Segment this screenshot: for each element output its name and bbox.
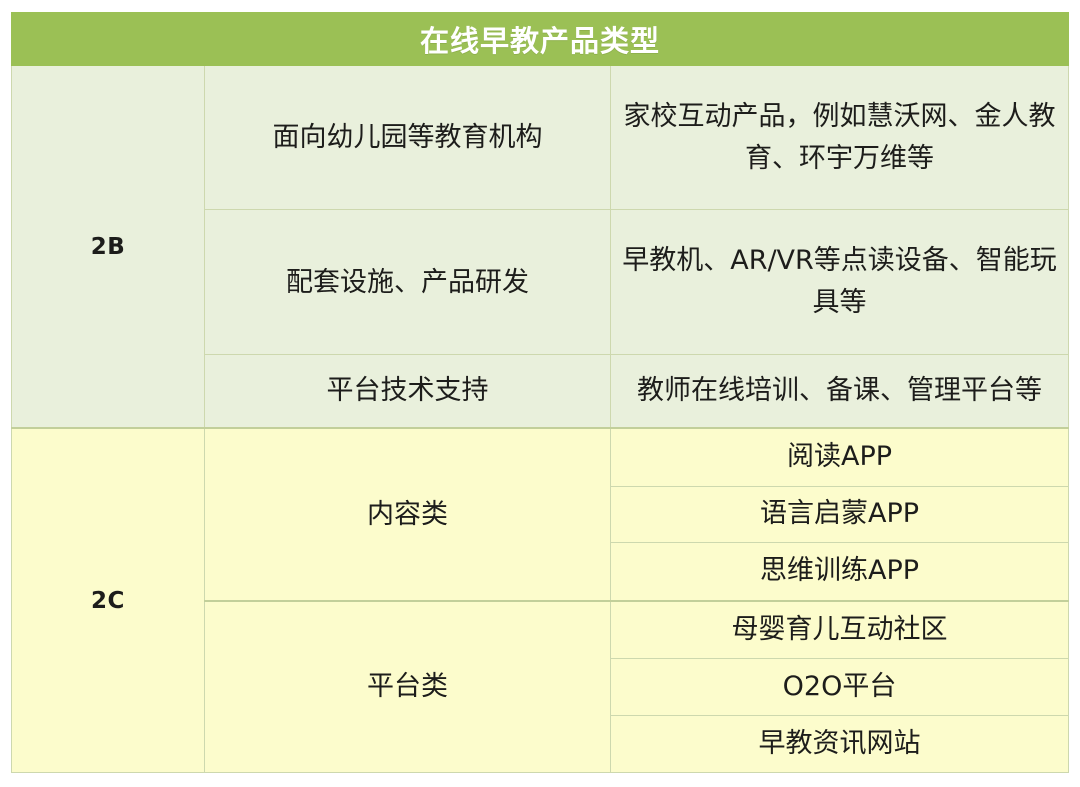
segment-label-2c: 2C: [12, 428, 205, 772]
item-cell: O2O平台: [611, 659, 1069, 716]
category-cell: 平台类: [205, 601, 611, 773]
table-row: 2C 内容类 阅读APP: [12, 428, 1069, 486]
item-cell: 早教资讯网站: [611, 716, 1069, 773]
item-cell: 家校互动产品，例如慧沃网、金人教育、环宇万维等: [611, 66, 1069, 210]
table-header-row: 在线早教产品类型: [12, 13, 1069, 66]
item-cell: 思维训练APP: [611, 543, 1069, 601]
segment-label-2b: 2B: [12, 66, 205, 429]
category-cell: 平台技术支持: [205, 354, 611, 428]
online-early-education-product-type-table: 在线早教产品类型 2B 面向幼儿园等教育机构 家校互动产品，例如慧沃网、金人教育…: [11, 12, 1069, 773]
item-cell: 语言启蒙APP: [611, 486, 1069, 543]
item-cell: 早教机、AR/VR等点读设备、智能玩具等: [611, 210, 1069, 354]
category-cell: 面向幼儿园等教育机构: [205, 66, 611, 210]
item-cell: 教师在线培训、备课、管理平台等: [611, 354, 1069, 428]
category-cell: 内容类: [205, 428, 611, 601]
table-row: 2B 面向幼儿园等教育机构 家校互动产品，例如慧沃网、金人教育、环宇万维等: [12, 66, 1069, 210]
item-cell: 阅读APP: [611, 428, 1069, 486]
category-cell: 配套设施、产品研发: [205, 210, 611, 354]
item-cell: 母婴育儿互动社区: [611, 601, 1069, 659]
product-type-table-container: 在线早教产品类型 2B 面向幼儿园等教育机构 家校互动产品，例如慧沃网、金人教育…: [11, 12, 1068, 773]
table-title: 在线早教产品类型: [12, 13, 1069, 66]
